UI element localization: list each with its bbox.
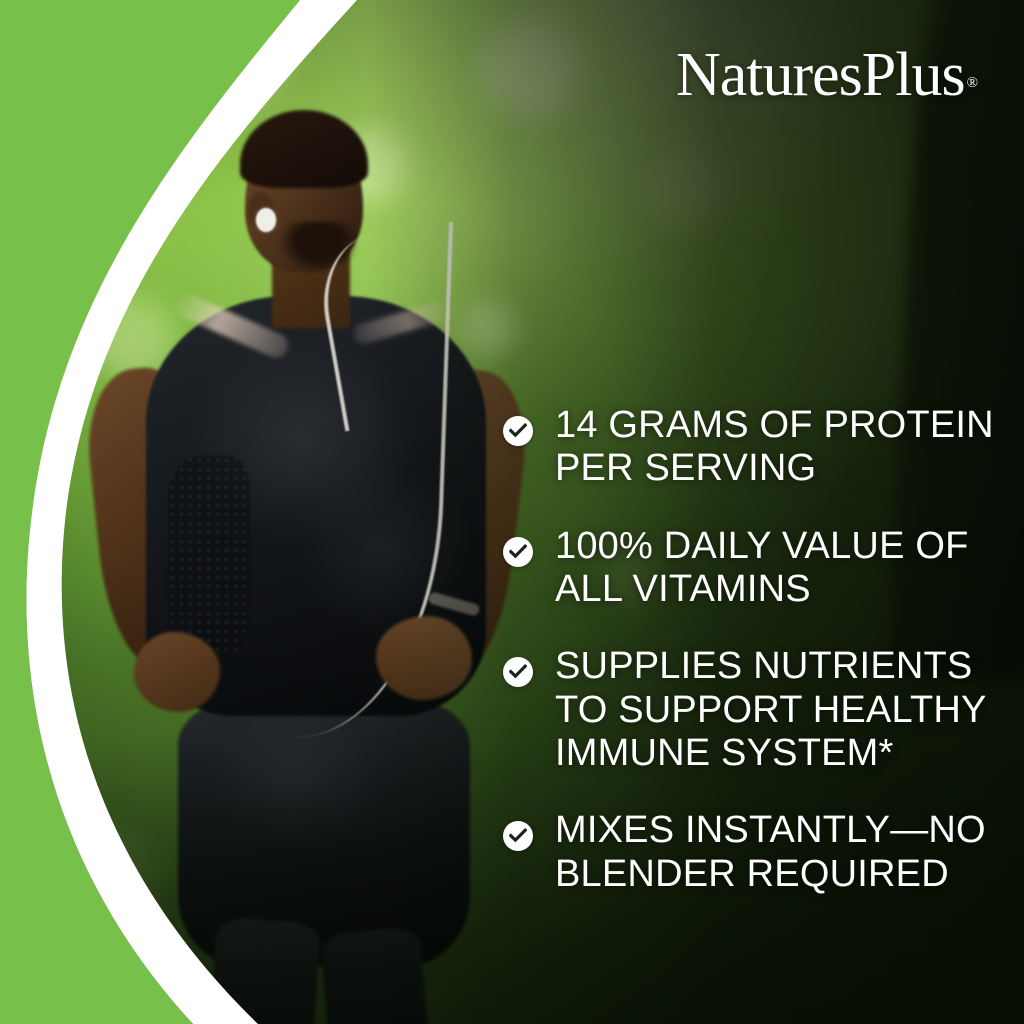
benefit-line-2: ALL VITAMINS: [555, 568, 811, 610]
benefit-line-1: 14 GRAMS OF PROTEIN: [555, 404, 994, 446]
benefits-list: 14 GRAMS OF PROTEINPER SERVING 100% DAIL…: [503, 404, 1003, 896]
check-circle-icon: [503, 821, 533, 851]
benefit-text: MIXES INSTANTLY—NOBLENDER REQUIRED: [555, 809, 1003, 896]
brand-logo: NaturesPlus®: [676, 44, 978, 106]
benefit-item: SUPPLIES NUTRIENTSTO SUPPORT HEALTHYIMMU…: [503, 645, 1003, 775]
benefit-line-1: 100% DAILY VALUE OF: [555, 525, 969, 567]
check-circle-icon: [503, 537, 533, 567]
registered-trademark-icon: ®: [967, 75, 978, 91]
benefit-text: 14 GRAMS OF PROTEINPER SERVING: [555, 404, 1003, 491]
benefit-item: MIXES INSTANTLY—NOBLENDER REQUIRED: [503, 809, 1003, 896]
benefit-line-3: IMMUNE SYSTEM*: [555, 732, 894, 774]
benefit-line-1: SUPPLIES NUTRIENTS: [555, 645, 972, 687]
benefit-line-2: BLENDER REQUIRED: [555, 853, 949, 895]
promo-banner: NaturesPlus® 14 GRAMS OF PROTEINPER SERV…: [0, 0, 1024, 1024]
benefit-text: 100% DAILY VALUE OFALL VITAMINS: [555, 525, 1003, 612]
brand-logo-text: NaturesPlus: [676, 41, 965, 109]
benefit-text: SUPPLIES NUTRIENTSTO SUPPORT HEALTHYIMMU…: [555, 645, 1003, 775]
benefit-line-1: MIXES INSTANTLY—NO: [555, 809, 986, 851]
benefit-line-2: TO SUPPORT HEALTHY: [555, 689, 987, 731]
check-circle-icon: [503, 416, 533, 446]
benefit-item: 100% DAILY VALUE OFALL VITAMINS: [503, 525, 1003, 612]
check-circle-icon: [503, 657, 533, 687]
benefit-line-2: PER SERVING: [555, 447, 816, 489]
benefit-item: 14 GRAMS OF PROTEINPER SERVING: [503, 404, 1003, 491]
